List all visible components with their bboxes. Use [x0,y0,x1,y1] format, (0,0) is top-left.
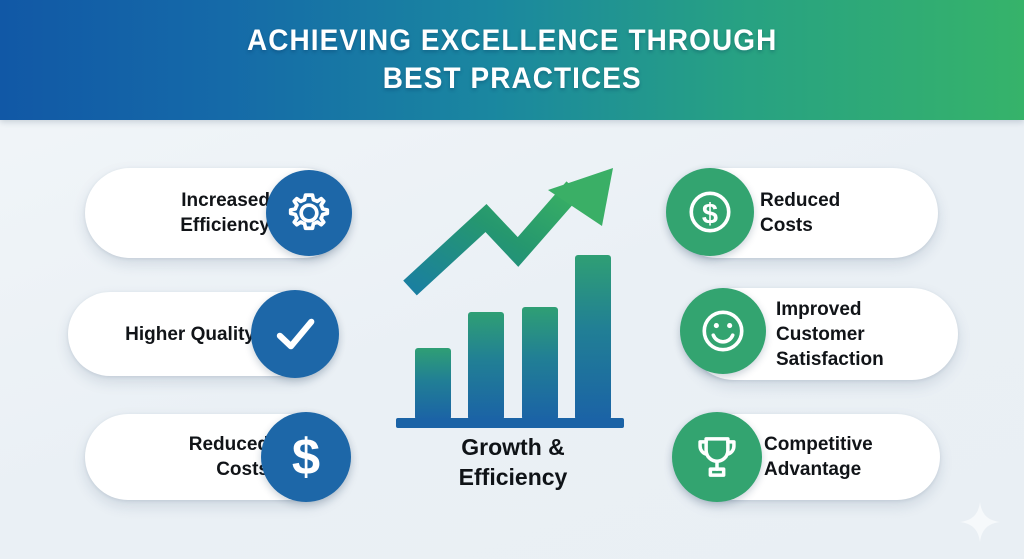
card-higher-quality[interactable]: Higher Quality [68,292,333,376]
page-title-line-1: ACHIEVING EXCELLENCE THROUGH [247,22,777,60]
chart-baseline [396,418,624,428]
card-label: Reduced Costs [760,188,840,238]
chart-bars [415,255,611,420]
svg-text:$: $ [702,198,718,230]
infographic-canvas: ACHIEVING EXCELLENCE THROUGH BEST PRACTI… [0,0,1024,559]
card-improved-customer-satisfaction[interactable]: Improved Customer Satisfaction [688,288,958,380]
smiley-face-icon [680,288,766,374]
chart-caption: Growth & Efficiency [388,432,638,492]
card-reduced-costs-left[interactable]: Reduced Costs $ [85,414,347,500]
four-point-star-icon [958,500,1002,544]
dollar-coin-icon: $ [666,168,754,256]
card-competitive-advantage[interactable]: Competitive Advantage [676,414,940,500]
page-title-line-2: BEST PRACTICES [382,60,641,98]
card-label: Reduced Costs [189,432,269,482]
card-increased-efficiency[interactable]: Increased Efficiency [85,168,348,258]
svg-text:$: $ [292,428,320,485]
header-banner: ACHIEVING EXCELLENCE THROUGH BEST PRACTI… [0,0,1024,120]
dollar-sign-icon: $ [261,412,351,502]
card-reduced-costs-right[interactable]: Reduced Costs $ [672,168,938,258]
card-label: Increased Efficiency [180,188,270,238]
gear-icon [266,170,352,256]
growth-bar-chart-icon [388,160,638,435]
card-label: Competitive Advantage [764,432,873,482]
check-circle-icon [251,290,339,378]
card-label: Higher Quality [125,322,255,347]
trophy-icon [672,412,762,502]
card-label: Improved Customer Satisfaction [776,297,884,372]
